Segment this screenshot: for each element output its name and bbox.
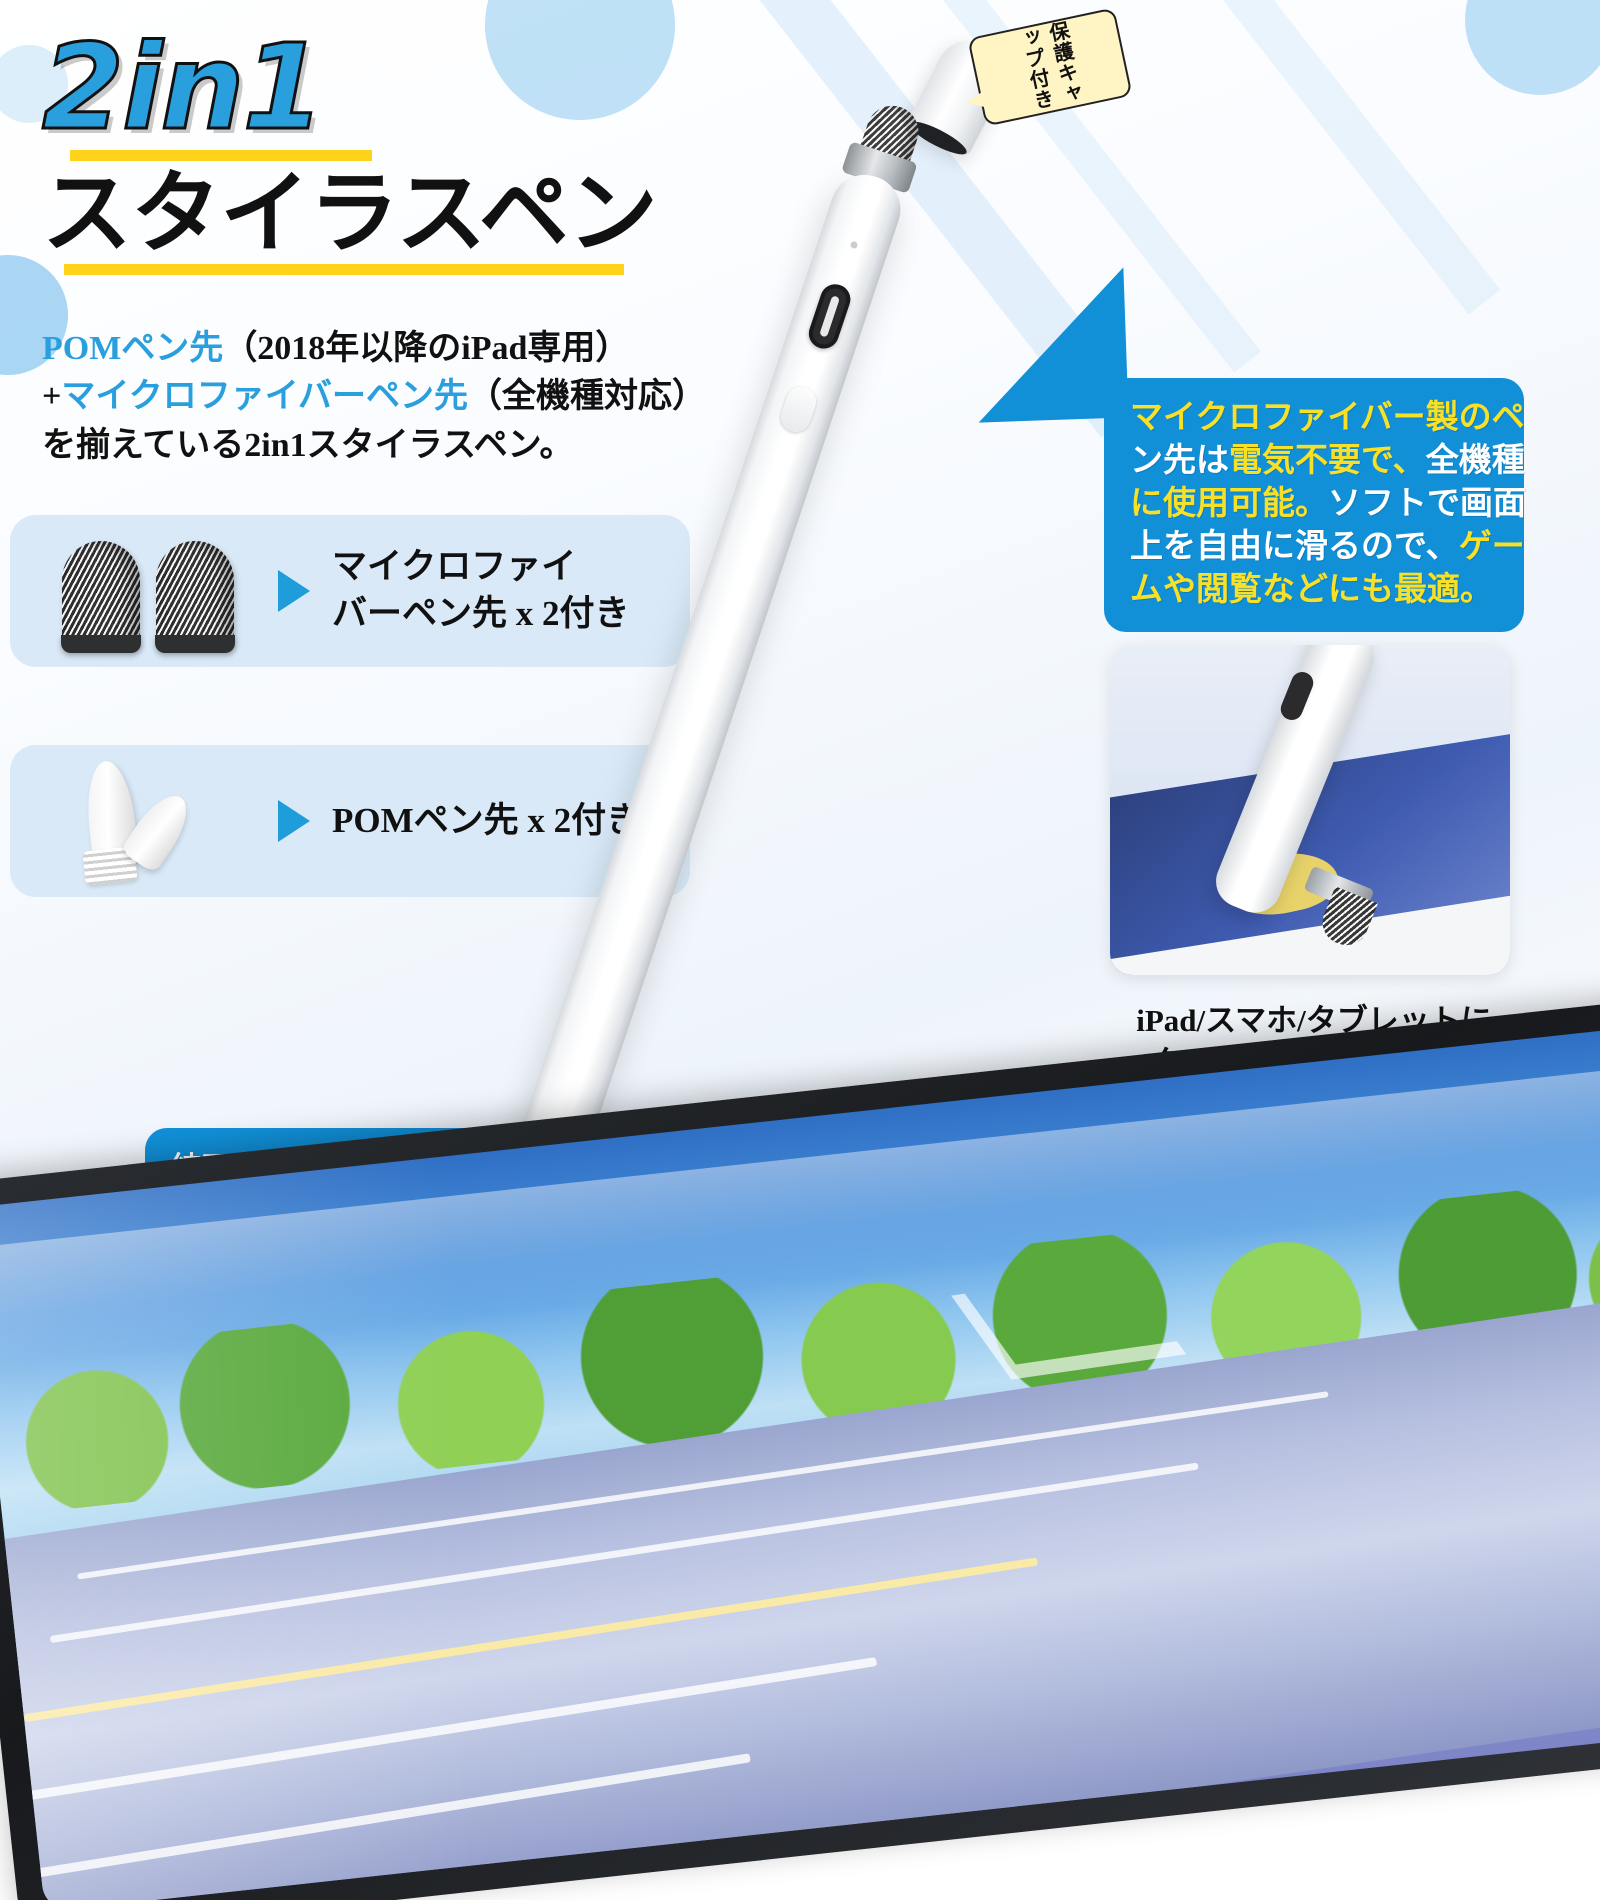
subtitle-microfiber-label: マイクロファイバーペン先 bbox=[61, 378, 468, 415]
microfiber-tip-icon bbox=[62, 541, 140, 649]
triangle-right-icon bbox=[278, 800, 310, 842]
microfiber-tip-icon bbox=[156, 541, 234, 649]
callout-line: 上を自由に滑るので、ゲー bbox=[1130, 525, 1498, 568]
callout-seg: 上を自由に滑るので、 bbox=[1130, 526, 1459, 565]
callout-line: ン先は電気不要で、全機種 bbox=[1130, 439, 1498, 482]
subtitle-pom-label: POMペン先 bbox=[42, 330, 223, 367]
callout-tail bbox=[973, 267, 1128, 422]
triangle-right-icon bbox=[278, 570, 310, 612]
microfiber-tip-base bbox=[61, 635, 141, 653]
callout-seg: 全機種 bbox=[1426, 440, 1525, 479]
callout-seg: ムや閲覧などにも最適。 bbox=[1130, 569, 1493, 608]
ipad-screen bbox=[0, 1024, 1600, 1900]
subtitle-plus: + bbox=[42, 378, 61, 415]
callout-line: マイクロファイバー製のペ bbox=[1130, 396, 1498, 439]
microfiber-tips-image bbox=[10, 515, 278, 667]
callout-microfiber-benefits: マイクロファイバー製のペ ン先は電気不要で、全機種 に使用可能。ソフトで画面 上… bbox=[1104, 378, 1524, 632]
callout-line: に使用可能。ソフトで画面 bbox=[1130, 482, 1498, 525]
callout-seg: ソフトで画面 bbox=[1328, 483, 1526, 522]
callout-seg: ゲー bbox=[1459, 526, 1525, 565]
callout-line: ムや閲覧などにも最適。 bbox=[1130, 568, 1498, 611]
pom-tips-image bbox=[10, 745, 278, 897]
microfiber-tip-base bbox=[155, 635, 235, 653]
callout-seg: 電気不要で、 bbox=[1229, 440, 1426, 479]
product-infographic: 2in1 スタイラスペン POMペン先（2018年以降のiPad専用） +マイク… bbox=[0, 0, 1600, 1900]
usage-photo bbox=[1110, 645, 1510, 975]
cap-included-tag-label: 保護キャップ付き bbox=[1013, 19, 1088, 115]
callout-seg: に使用可能。 bbox=[1130, 483, 1328, 522]
callout-seg: ン先は bbox=[1130, 440, 1229, 479]
callout-seg: マイクロファイバー製のペ bbox=[1130, 397, 1525, 436]
